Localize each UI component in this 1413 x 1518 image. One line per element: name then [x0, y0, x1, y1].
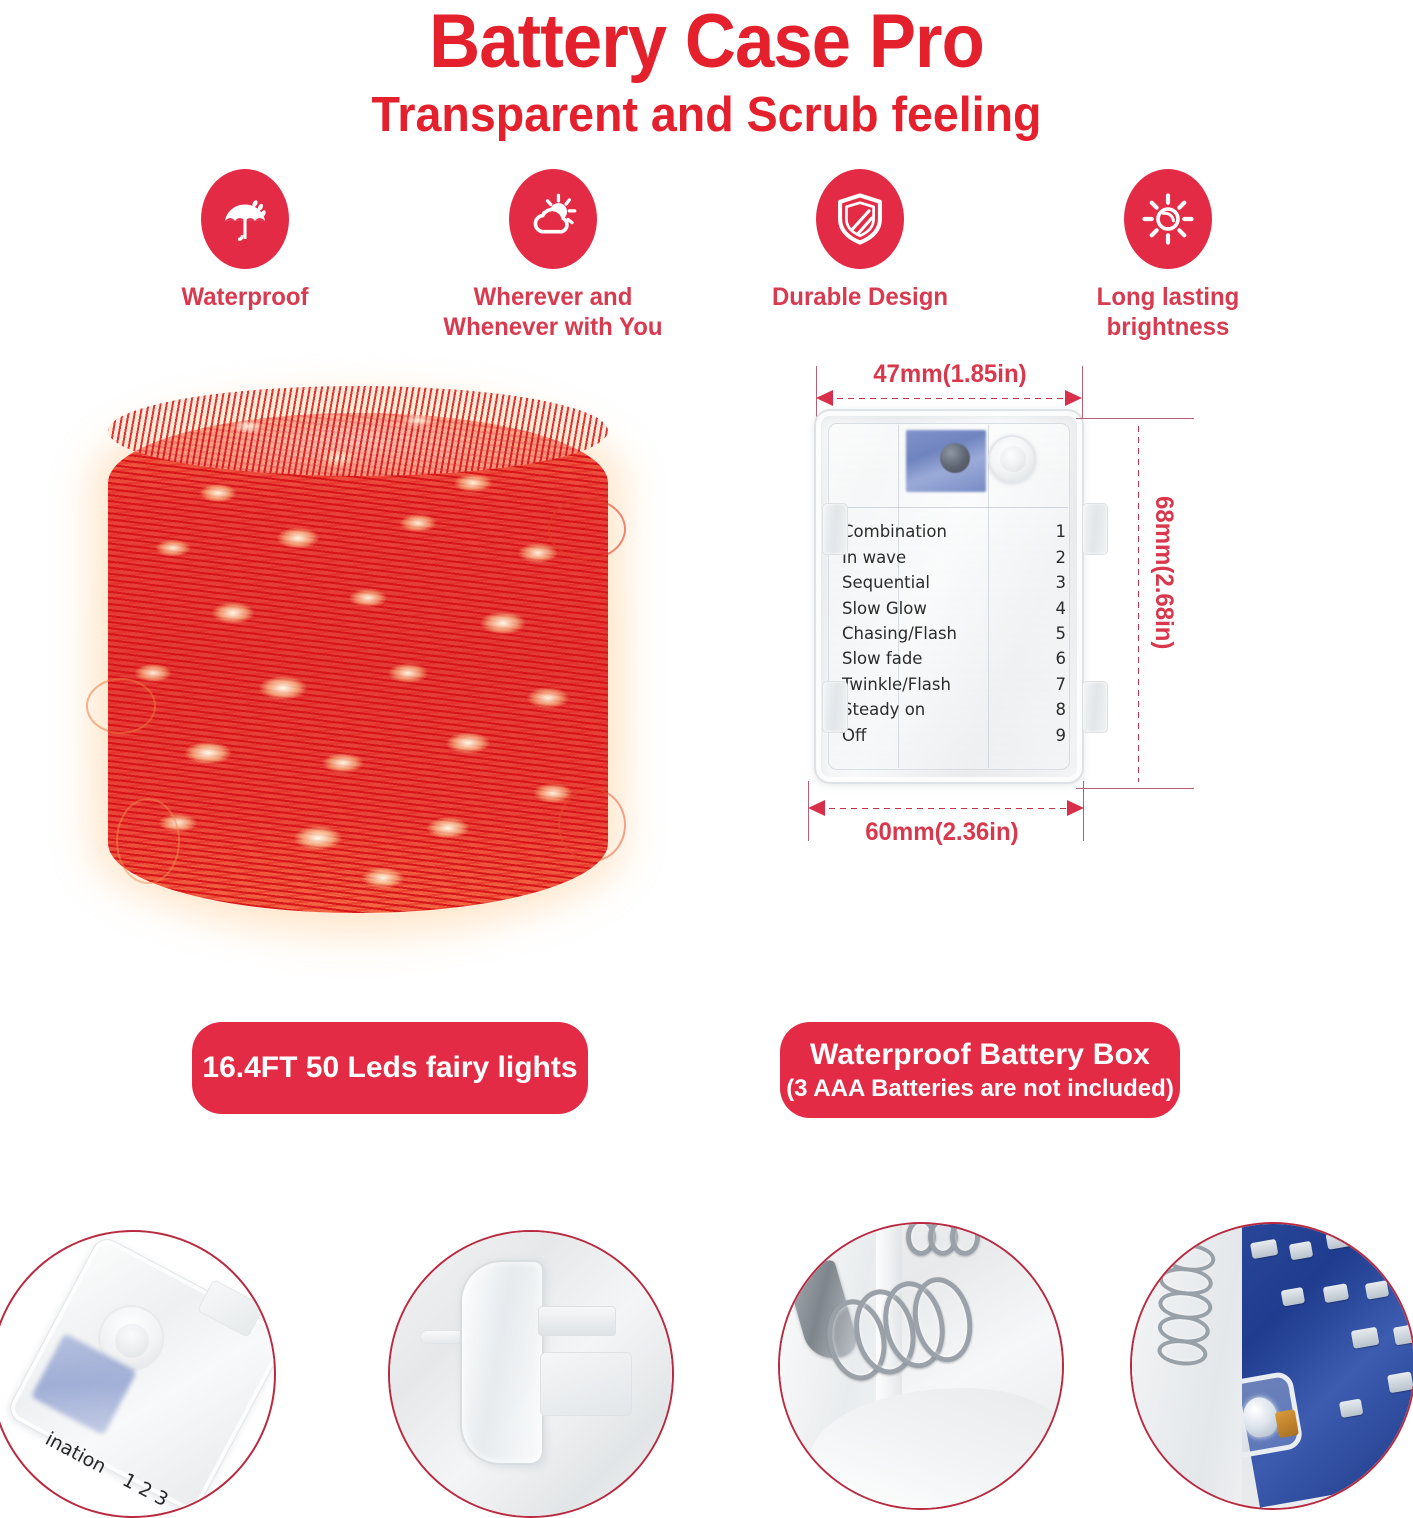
- solder-pad: [1250, 1239, 1278, 1259]
- mode-name: In wave: [842, 545, 906, 570]
- caption-text-line1: Waterproof Battery Box: [810, 1038, 1150, 1072]
- box-latch: [822, 503, 848, 555]
- mode-row: Slow Glow 4: [842, 596, 1066, 621]
- dim-arrow-line-width: [826, 398, 1072, 399]
- solder-pad: [1351, 1327, 1380, 1349]
- mode-name: Slow Glow: [842, 596, 927, 621]
- dim-label-height: 68mm(2.68in): [1149, 496, 1178, 649]
- mode-name: Sequential: [842, 570, 930, 595]
- detail-image: [390, 1232, 672, 1516]
- panel-divider: [830, 507, 1068, 508]
- solder-pad: [1281, 1287, 1305, 1307]
- dim-label-width: 47mm(1.85in): [873, 360, 1026, 389]
- mode-row: Combination 1: [842, 519, 1066, 544]
- mode-name: Steady on: [842, 697, 925, 722]
- box-tab: [197, 1279, 265, 1338]
- clasp-post: [538, 1306, 616, 1336]
- mode-name: Combination: [842, 519, 947, 544]
- fairy-lights-caption-pill: 16.4FT 50 Leds fairy lights: [192, 1022, 588, 1114]
- caption-text-line2: (3 AAA Batteries are not included): [786, 1075, 1174, 1103]
- umbrella-rain-icon: [201, 169, 289, 269]
- clasp-hook: [460, 1260, 544, 1465]
- solder-pad: [1364, 1232, 1388, 1252]
- spring-top-partial: [906, 1222, 980, 1262]
- solder-pad: [1289, 1241, 1313, 1261]
- caption-text: 16.4FT 50 Leds fairy lights: [202, 1051, 577, 1085]
- detail-photo-row: ination1 2 3: [0, 1212, 1413, 1512]
- solder-pad: [1339, 1399, 1363, 1419]
- spring-coil: [950, 1222, 980, 1256]
- feature-label: Long lasting brightness: [1038, 283, 1297, 342]
- mode-row: In wave 2: [842, 545, 1066, 570]
- dim-label-depth: 60mm(2.36in): [865, 818, 1018, 847]
- dim-extension-top: [1076, 418, 1194, 419]
- feature-durable-design: Durable Design: [725, 169, 995, 342]
- coil-wisp: [548, 498, 626, 560]
- mode-name: Chasing/Flash: [842, 621, 957, 646]
- mode-number: 3: [1046, 570, 1066, 595]
- mode-name: Slow fade: [842, 646, 922, 671]
- page-subtitle: Transparent and Scrub feeling: [35, 90, 1377, 141]
- dim-arrowhead-left: [808, 800, 825, 816]
- led-dome: [1240, 1394, 1280, 1439]
- mode-row: Sequential 3: [842, 570, 1066, 595]
- coil-wisp: [116, 798, 180, 884]
- solder-pad: [1387, 1371, 1413, 1393]
- feature-label: Waterproof: [115, 283, 374, 313]
- mode-row: Off 9: [842, 723, 1066, 748]
- coil-body: [108, 413, 608, 913]
- box-latch: [1082, 503, 1108, 555]
- page-title: Battery Case Pro: [49, 4, 1363, 80]
- product-showcase: 47mm(1.85in) Combination 1 In wave 2: [0, 356, 1413, 1116]
- mode-number: 9: [1046, 723, 1066, 748]
- fairy-lights-coil-image: [78, 378, 638, 938]
- cloud-sun-icon: [509, 169, 597, 269]
- mode-number: 5: [1046, 621, 1066, 646]
- mode-number: 8: [1046, 697, 1066, 722]
- detail-photo-battery-box-angled: ination1 2 3: [0, 1230, 276, 1518]
- mode-row: Twinkle/Flash 7: [842, 672, 1066, 697]
- clasp-base: [540, 1352, 632, 1416]
- solder-pad: [1323, 1283, 1349, 1303]
- feature-wherever-whenever: Wherever and Whenever with You: [418, 169, 688, 342]
- angled-battery-box: [4, 1234, 276, 1516]
- battery-box-caption-pill: Waterproof Battery Box (3 AAA Batteries …: [780, 1022, 1180, 1118]
- mode-name: Twinkle/Flash: [842, 672, 951, 697]
- mode-number: 4: [1046, 596, 1066, 621]
- detail-image: [1132, 1224, 1413, 1508]
- dim-arrowhead-left: [816, 390, 833, 406]
- feature-long-lasting-brightness: Long lasting brightness: [1033, 169, 1303, 342]
- dim-arrowhead-right: [1067, 800, 1084, 816]
- led-resistor: [1275, 1409, 1299, 1438]
- feature-waterproof: Waterproof: [110, 169, 380, 342]
- detail-image: ination1 2 3: [0, 1232, 274, 1516]
- mode-row: Chasing/Flash 5: [842, 621, 1066, 646]
- feature-label: Wherever and Whenever with You: [423, 283, 682, 342]
- shield-icon: [816, 169, 904, 269]
- spring-coil: [1156, 1337, 1208, 1368]
- mode-row: Slow fade 6: [842, 646, 1066, 671]
- dim-arrow-line-depth: [818, 808, 1074, 809]
- battery-spring: [1145, 1240, 1236, 1377]
- mode-list: Combination 1 In wave 2 Sequential 3 Slo…: [842, 519, 1066, 748]
- solder-pad: [1393, 1324, 1413, 1346]
- battery-box-diagram: 47mm(1.85in) Combination 1 In wave 2: [786, 356, 1206, 956]
- mode-number: 6: [1046, 646, 1066, 671]
- detail-image: [780, 1224, 1062, 1508]
- coil-top: [108, 386, 608, 476]
- sun-brightness-icon: [1124, 169, 1212, 269]
- page-header: Battery Case Pro Transparent and Scrub f…: [0, 0, 1413, 141]
- battery-box: Combination 1 In wave 2 Sequential 3 Slo…: [814, 409, 1084, 784]
- dim-arrow-line-height: [1138, 426, 1139, 782]
- mode-number: 1: [1046, 519, 1066, 544]
- mode-number: 7: [1046, 672, 1066, 697]
- detail-photo-circuit-board-led: [1130, 1222, 1413, 1510]
- dim-arrowhead-right: [1065, 390, 1082, 406]
- mode-row: Steady on 8: [842, 697, 1066, 722]
- solder-pad: [1326, 1230, 1352, 1250]
- box-latch: [1082, 681, 1108, 733]
- dim-extension-bottom: [1076, 788, 1194, 789]
- coil-wisp: [558, 788, 626, 862]
- mode-number: 2: [1046, 545, 1066, 570]
- detail-photo-spring-contact: [778, 1222, 1064, 1510]
- solder-pad: [1365, 1280, 1389, 1300]
- feature-label: Durable Design: [731, 283, 990, 313]
- detail-photo-waterproof-clasp: [388, 1230, 674, 1518]
- feature-list: Waterproof Wherever and Whenever with Yo…: [0, 141, 1413, 342]
- box-latch: [822, 681, 848, 733]
